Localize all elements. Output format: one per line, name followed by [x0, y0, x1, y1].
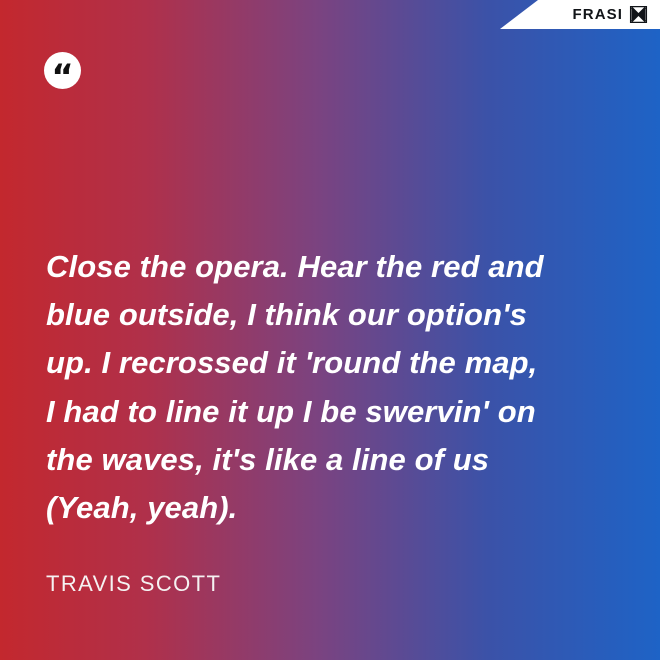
- brand-banner: FRASI: [500, 0, 660, 29]
- frasi-x-icon: [629, 5, 648, 24]
- brand-wordmark: FRASI: [573, 7, 624, 22]
- double-quote-icon: “: [51, 60, 73, 94]
- author-name: TRAVIS SCOTT: [46, 573, 221, 595]
- quote-text: Close the opera. Hear the red and blue o…: [46, 243, 546, 532]
- quote-mark-badge: “: [44, 52, 81, 89]
- quote-card: FRASI “ Close the opera. Hear the red an…: [0, 0, 660, 660]
